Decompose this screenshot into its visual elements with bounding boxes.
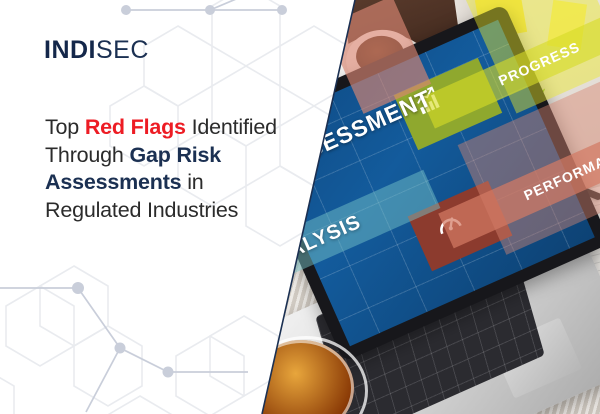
headline-red-flags: Red Flags bbox=[85, 115, 186, 139]
logo-text-bold: INDI bbox=[44, 36, 96, 64]
page-title: Top Red Flags Identified Through Gap Ris… bbox=[45, 114, 295, 224]
headline-part-1: Top bbox=[45, 115, 85, 139]
marketing-banner: PROGRESS PERFORMANCE ASSESSMENT ANALYSIS bbox=[0, 0, 600, 414]
logo-text-light: SEC bbox=[96, 36, 149, 64]
brand-logo[interactable]: INDISEC bbox=[44, 38, 149, 63]
